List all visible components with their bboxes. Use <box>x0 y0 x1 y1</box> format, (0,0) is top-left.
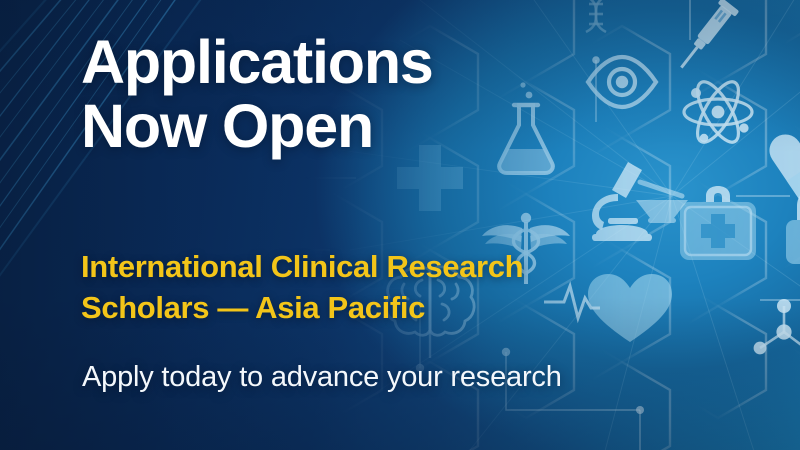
headline: Applications Now Open <box>81 30 561 158</box>
banner-content: Applications Now Open International Clin… <box>0 0 800 450</box>
program-title: International Clinical Research Scholars… <box>81 246 681 328</box>
tagline: Apply today to advance your research <box>82 361 722 394</box>
promo-banner: Applications Now Open International Clin… <box>0 0 800 450</box>
